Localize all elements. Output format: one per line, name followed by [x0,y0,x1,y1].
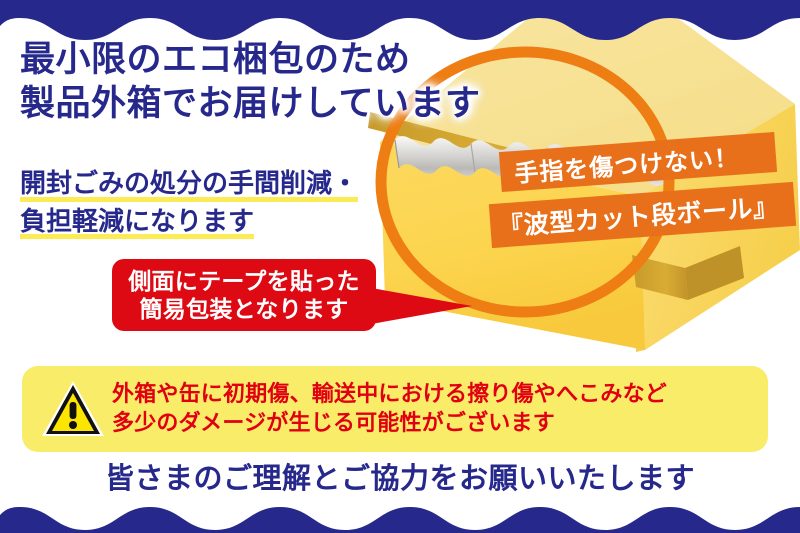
warning-line-1: 外箱や缶に初期傷、輸送中における擦り傷やへこみなど [112,380,667,409]
bottom-wave-decoration [0,487,800,533]
warning-text: 外箱や缶に初期傷、輸送中における擦り傷やへこみなど 多少のダメージが生じる可能性… [112,380,667,437]
subtext-block: 開封ごみの処分の手間削減・ 負担軽減になります [20,165,358,240]
red-callout-line-2: 簡易包装となります [139,295,348,323]
red-callout-line-1: 側面にテープを貼った [128,267,360,295]
eco-packaging-banner: 最小限のエコ梱包のため 製品外箱でお届けしています 開封ごみの処分の手間削減・ … [0,0,800,533]
subtext-line-1: 開封ごみの処分の手間削減・ [20,165,358,203]
red-callout-box: 側面にテープを貼った 簡易包装となります [112,259,376,331]
subtext-line-2: 負担軽減になります [20,203,254,241]
red-arrow-pointer [360,276,475,332]
warning-triangle-icon [40,378,106,440]
top-wave-decoration [0,0,800,46]
page-title: 最小限のエコ梱包のため 製品外箱でお届けしています [20,38,480,127]
headline-line-2: 製品外箱でお届けしています [20,82,480,126]
warning-box: 外箱や缶に初期傷、輸送中における擦り傷やへこみなど 多少のダメージが生じる可能性… [22,366,768,452]
warning-line-2: 多少のダメージが生じる可能性がございます [112,409,667,438]
